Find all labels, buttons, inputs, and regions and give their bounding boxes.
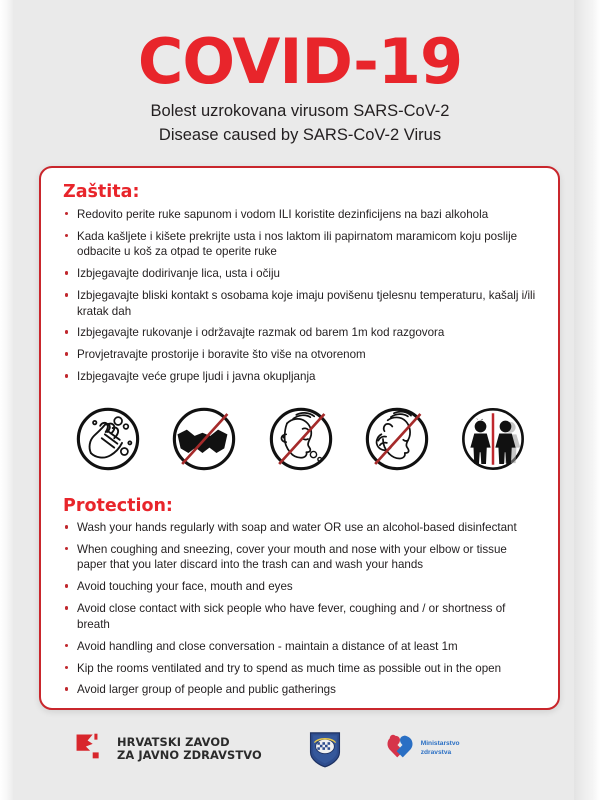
- no-handshake-icon: [163, 400, 245, 478]
- ministry-of-health-logo: Ministarstvo zdravstva: [384, 733, 460, 766]
- list-item: Avoid handling and close conversation - …: [63, 639, 538, 654]
- list-item: Kada kašljete i kišete prekrijte usta i …: [63, 229, 538, 260]
- no-touch-face-icon: [260, 400, 342, 478]
- civil-protection-shield-icon: [308, 729, 342, 769]
- list-item: Wash your hands regularly with soap and …: [63, 520, 538, 535]
- list-item: Provjetravajte prostorije i boravite što…: [63, 347, 538, 362]
- list-item: Avoid touching your face, mouth and eyes: [63, 579, 538, 594]
- poster-header: COVID-19 Bolest uzrokovana virusom SARS-…: [0, 0, 600, 147]
- section-heading-english: Protection:: [63, 496, 538, 516]
- wash-hands-icon: [67, 400, 149, 478]
- list-item: Izbjegavajte dodirivanje lica, usta i oč…: [63, 266, 538, 281]
- ministry-name: Ministarstvo zdravstva: [421, 740, 460, 757]
- pictogram-row: [63, 391, 538, 482]
- hzjz-name: HRVATSKI ZAVOD ZA JAVNO ZDRAVSTVO: [117, 736, 262, 762]
- subtitle-english: Disease caused by SARS-CoV-2 Virus: [0, 124, 600, 147]
- cover-cough-icon: [356, 400, 438, 478]
- protection-list-english: Wash your hands regularly with soap and …: [63, 520, 538, 698]
- list-item: Izbjegavajte bliski kontakt s osobama ko…: [63, 288, 538, 319]
- social-distance-icon: [452, 400, 534, 478]
- page-title: COVID-19: [0, 30, 600, 93]
- subtitle-croatian: Bolest uzrokovana virusom SARS-CoV-2: [0, 100, 600, 123]
- ministry-heart-icon: [384, 733, 416, 766]
- list-item: Avoid close contact with sick people who…: [63, 601, 538, 632]
- hzjz-logo: HRVATSKI ZAVOD ZA JAVNO ZDRAVSTVO: [74, 732, 262, 766]
- list-item: Redovito perite ruke sapunom i vodom ILI…: [63, 207, 538, 222]
- list-item: Kip the rooms ventilated and try to spen…: [63, 661, 538, 676]
- poster-root: COVID-19 Bolest uzrokovana virusom SARS-…: [0, 0, 600, 800]
- list-item: Izbjegavajte veće grupe ljudi i javna ok…: [63, 369, 538, 384]
- protection-section-english: Protection: Wash your hands regularly wi…: [63, 496, 538, 698]
- hzjz-mark-icon: [74, 732, 108, 766]
- list-item: Izbjegavajte rukovanje i održavajte razm…: [63, 325, 538, 340]
- list-item: Avoid larger group of people and public …: [63, 682, 538, 697]
- list-item: When coughing and sneezing, cover your m…: [63, 542, 538, 573]
- content-card: Zaštita: Redovito perite ruke sapunom i …: [39, 166, 560, 710]
- protection-list-croatian: Redovito perite ruke sapunom i vodom ILI…: [63, 207, 538, 385]
- section-heading-croatian: Zaštita:: [63, 182, 538, 202]
- footer-logos: HRVATSKI ZAVOD ZA JAVNO ZDRAVSTVO: [0, 718, 600, 780]
